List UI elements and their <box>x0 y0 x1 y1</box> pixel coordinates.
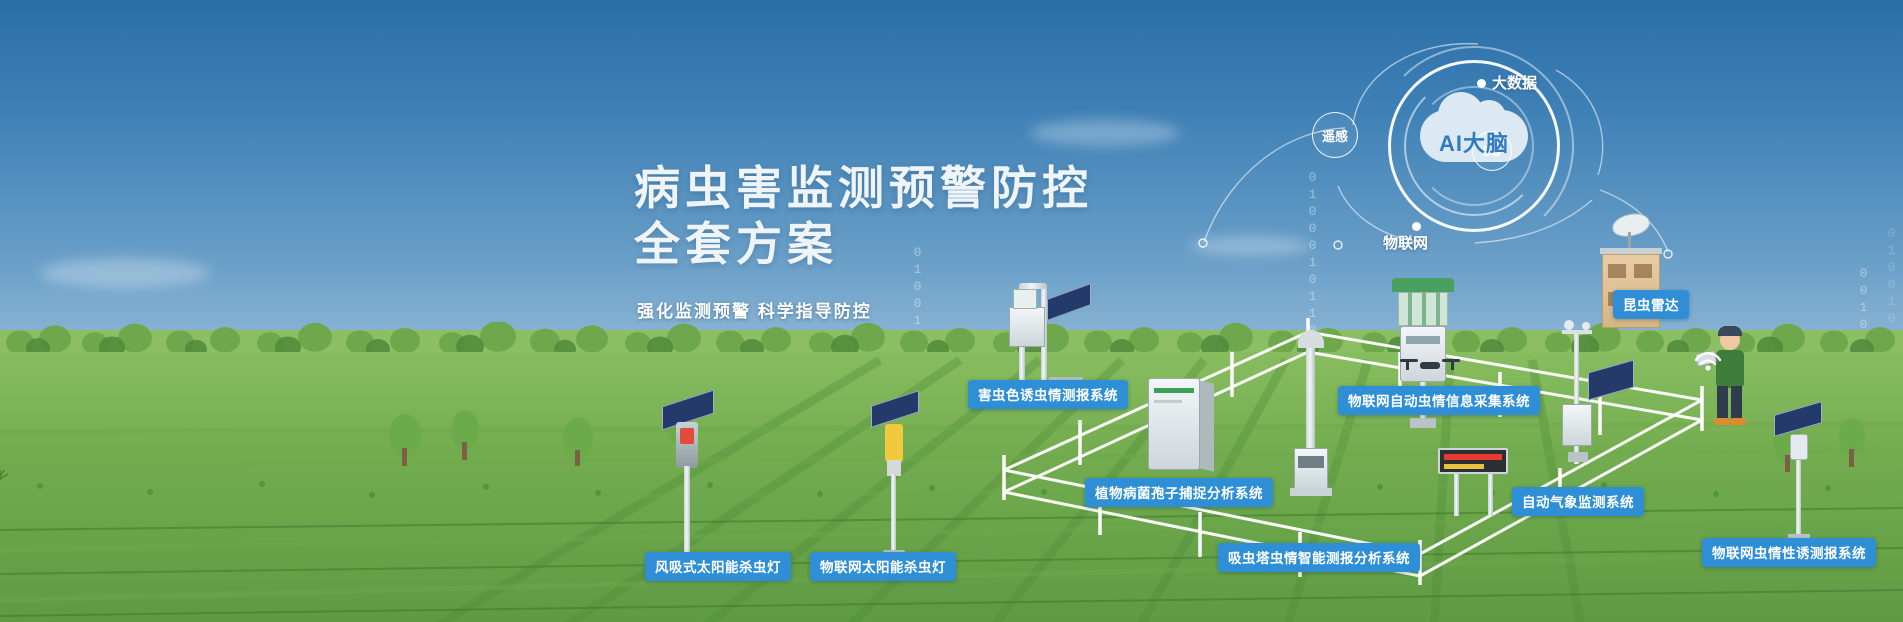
drone-icon <box>1398 352 1462 380</box>
badge-weather-station[interactable]: 自动气象监测系统 <box>1512 487 1644 516</box>
badge-iot-solar-lamp[interactable]: 物联网太阳能杀虫灯 <box>810 552 956 581</box>
hub-node-iot-dot <box>1412 222 1421 231</box>
hub-node-label-iot: 物联网 <box>1383 232 1428 253</box>
badge-iot-pheromone[interactable]: 物联网虫情性诱测报系统 <box>1702 538 1876 567</box>
badge-color-lure[interactable]: 害虫色诱虫情测报系统 <box>968 380 1128 409</box>
badge-insect-radar[interactable]: 昆虫雷达 <box>1613 290 1689 319</box>
ai-brain-label: AI大脑 <box>1374 126 1574 158</box>
badge-iot-pest-collect[interactable]: 物联网自动虫情信息采集系统 <box>1338 386 1540 415</box>
hub-node-big-data-dot <box>1477 79 1486 88</box>
hub-node-label-remote-sensing: 遥感 <box>1322 126 1348 145</box>
hub-node-label-big-data: 大数据 <box>1492 72 1537 93</box>
badge-wind-solar-lamp[interactable]: 风吸式太阳能杀虫灯 <box>645 552 791 581</box>
badge-suction-tower[interactable]: 吸虫塔虫情智能测报分析系统 <box>1218 543 1420 572</box>
right-bushes <box>1760 395 1900 475</box>
wifi-icon <box>1690 338 1730 372</box>
badge-spore-capture[interactable]: 植物病菌孢子捕捉分析系统 <box>1085 478 1273 507</box>
hub-node-remote-sensing[interactable]: 遥感 <box>1312 112 1358 158</box>
banner-illustration: 010010110001 0100010110111 0010111010100… <box>0 0 1903 622</box>
